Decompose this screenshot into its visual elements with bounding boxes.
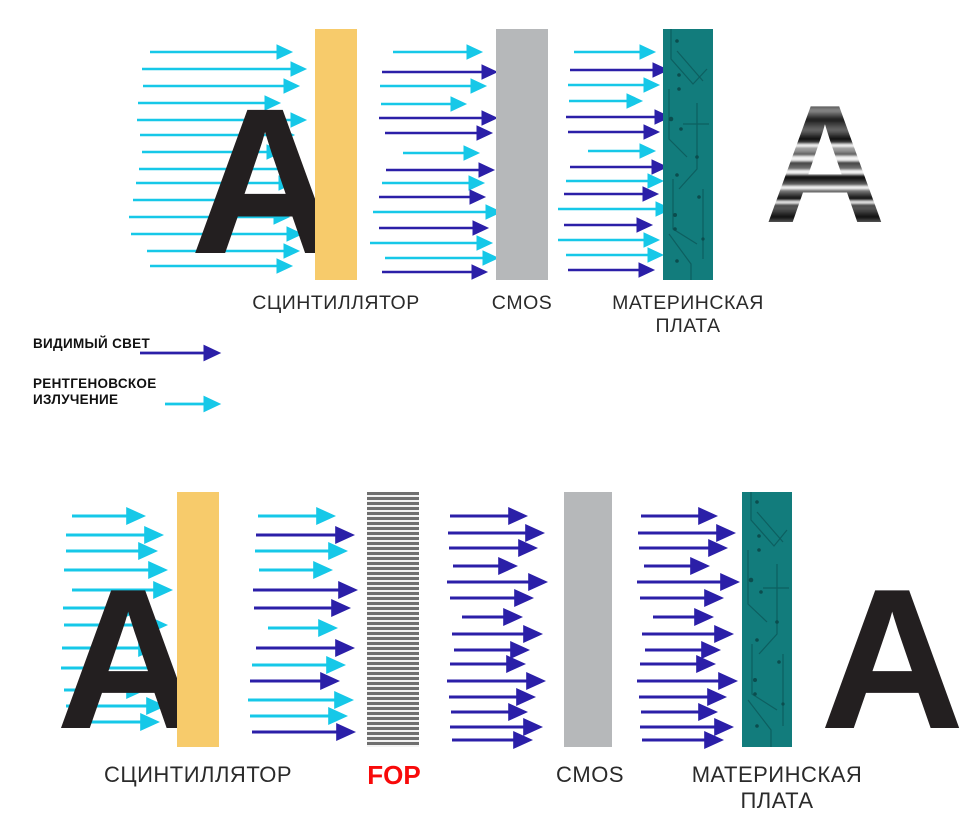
- bottom-row-arrows-fop-to-cmos: [447, 516, 530, 740]
- plate-motherboard-top: [663, 29, 713, 280]
- label-cmos-bottom: CMOS: [536, 762, 644, 788]
- bottom-output-letter-sharp: A: [820, 560, 960, 760]
- legend-label-xray: РЕНТГЕНОВСКОЕ ИЗЛУЧЕНИЕ: [33, 376, 233, 407]
- label-motherboard-bottom: МАТЕРИНСКАЯ ПЛАТА: [662, 762, 892, 814]
- plate-fop-bottom: [367, 492, 419, 747]
- plate-scintillator-top: [315, 29, 357, 280]
- detector-diagram: A: [0, 0, 969, 827]
- plate-cmos-bottom: [564, 492, 612, 747]
- bottom-row-arrows-cmos-to-motherboard: [637, 516, 722, 740]
- pcb-traces-top: [663, 29, 713, 280]
- top-row-arrows-cmos-to-motherboard: [558, 52, 657, 270]
- label-fop-bottom: FOP: [340, 760, 448, 791]
- label-motherboard-top: МАТЕРИНСКАЯ ПЛАТА: [578, 292, 798, 338]
- bottom-input-object-letter: A: [56, 560, 196, 760]
- legend-label-visible-light: ВИДИМЫЙ СВЕТ: [33, 336, 233, 352]
- top-row-arrows-scint-to-cmos: [370, 52, 487, 272]
- plate-scintillator-bottom: [177, 492, 219, 747]
- plate-cmos-top: [496, 29, 548, 280]
- label-scintillator-top: СЦИНТИЛЛЯТОР: [206, 292, 466, 315]
- pcb-traces-bottom: [742, 492, 792, 747]
- bottom-row-arrows-scint-to-fop: [248, 516, 340, 732]
- label-scintillator-bottom: СЦИНТИЛЛЯТОР: [78, 762, 318, 788]
- top-output-letter-blurred: A: [760, 82, 890, 232]
- plate-motherboard-bottom: [742, 492, 792, 747]
- label-cmos-top: CMOS: [472, 292, 572, 315]
